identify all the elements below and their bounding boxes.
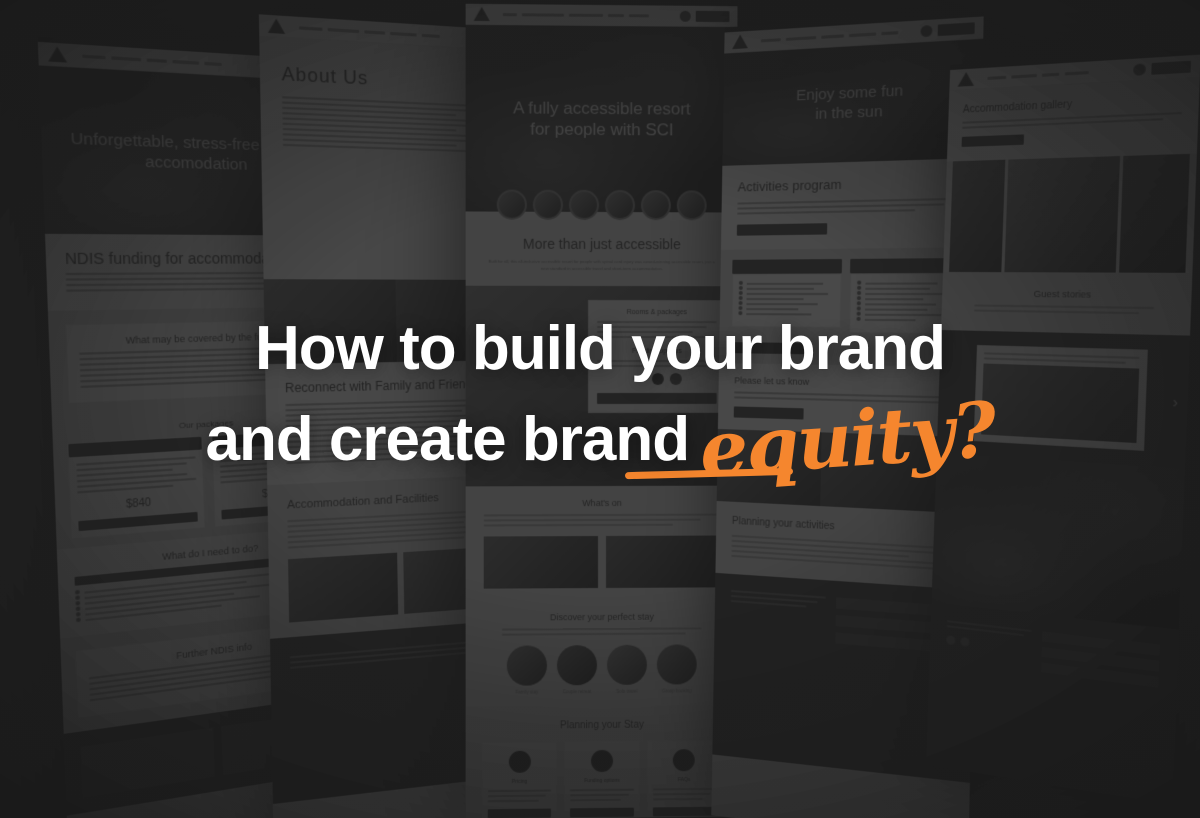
social-icon[interactable] [946,635,955,645]
section-heading: What's on [484,498,720,509]
nav-cta-button[interactable] [1151,60,1191,74]
hero-title-line2: for people with SCI [530,120,674,140]
page-title: How to build your brand and create brand… [0,318,1200,472]
card-icon [673,749,695,771]
card-cta-button[interactable] [653,807,716,817]
discover-tile-label: Group booking [657,689,697,694]
discover-tile-image[interactable] [607,645,647,685]
panel5-gallery-grid [943,154,1197,273]
panel5-section-gallery: Accommodation gallery [947,77,1200,161]
section-heading: Planning your Stay [482,719,722,732]
nav-links[interactable] [503,13,675,18]
card-title: FAQs [653,777,716,784]
gallery-cta-button[interactable] [962,134,1025,147]
panel4-section-program: Activities program [721,158,981,250]
panel3-section-more: More than just accessible Built for all,… [466,219,738,286]
photo [484,536,598,589]
section-heading: Activities program [738,173,964,194]
price-value: $840 [78,494,198,515]
discover-tile-label: Couple retreat [557,689,597,694]
panel3-section-planning: Planning your Stay Pricing Funding optio… [466,705,738,818]
section-heading: Guest stories [956,288,1175,301]
brand-logo-icon [474,7,490,21]
discover-tile-image[interactable] [557,645,597,685]
badge-icon[interactable] [497,190,527,220]
discover-tile-label: Family stay [507,690,547,695]
body-copy [488,790,552,803]
price-cta-button[interactable] [78,512,198,531]
nav-links[interactable] [761,30,915,42]
photo[interactable] [949,160,1006,272]
panel3-section-whatson: What's on [466,486,738,601]
brand-logo-icon [268,18,286,34]
hero-title-line1: Enjoy some fun [796,82,903,104]
panel4-hero: Enjoy some fun in the sun [722,39,983,166]
photo[interactable] [1005,156,1120,273]
nav-links[interactable] [987,68,1127,79]
discover-tile-image[interactable] [657,645,697,685]
photo [606,536,720,588]
feature-badges[interactable] [466,189,738,220]
site-nav[interactable] [466,4,738,27]
discover-tile-image[interactable] [507,646,547,686]
headline-line-2: and create brandequity? [0,396,1200,472]
avatar[interactable] [1133,63,1146,75]
footer-links[interactable] [947,620,1032,637]
badge-icon[interactable] [677,190,707,220]
nav-links[interactable] [82,54,271,68]
hero-banner: Unforgettable, stress-free holiday accom… [0,0,1200,818]
body-copy [737,198,963,215]
social-icon[interactable] [960,637,969,647]
card-icon [509,751,531,773]
card-icon [591,750,613,772]
card-cta-button[interactable] [488,809,552,818]
badge-icon[interactable] [605,190,635,220]
badge-icon[interactable] [533,190,563,220]
panel3-section-discover: Discover your perfect stay Family stay C… [466,599,738,707]
body-copy [484,514,720,527]
body-copy [974,304,1154,314]
body-copy [502,628,702,636]
hero-title-line1: A fully accessible resort [513,98,691,118]
brand-logo-icon [732,34,748,49]
panel5-cta-hero [931,453,1185,630]
nav-cta-button[interactable] [938,22,975,36]
body-copy [962,112,1182,129]
discover-tile-label: Solo travel [607,689,647,694]
hero-title-line2: in the sun [815,103,883,123]
body-copy [570,789,633,802]
brand-logo-icon [48,46,68,63]
body-copy [653,788,716,801]
headline-line-2-plain: and create brand [205,405,689,474]
onsite-list [738,283,834,316]
section-heading: Discover your perfect stay [480,612,724,624]
panel3-hero: A fully accessible resort for people wit… [466,25,738,213]
headline-accent-word: equity? [697,392,997,488]
badge-icon[interactable] [641,190,671,220]
section-heading: More than just accessible [486,236,718,253]
card-title: Pricing [488,779,552,786]
card-cta-button[interactable] [570,808,633,818]
footer-links[interactable] [731,590,826,609]
brand-logo-icon [958,72,975,87]
headline-line-1: How to build your brand [0,318,1200,380]
card-title: Funding options [570,778,633,785]
photo [288,553,398,623]
nav-cta-button[interactable] [696,10,730,21]
list-header-onsite [732,259,842,274]
photo[interactable] [1119,154,1190,273]
avatar[interactable] [920,24,932,36]
download-program-button[interactable] [737,223,827,236]
body-copy [731,535,956,571]
avatar[interactable] [680,10,691,21]
section-body: Built for all, this all-inclusive access… [486,258,718,273]
badge-icon[interactable] [569,190,599,220]
